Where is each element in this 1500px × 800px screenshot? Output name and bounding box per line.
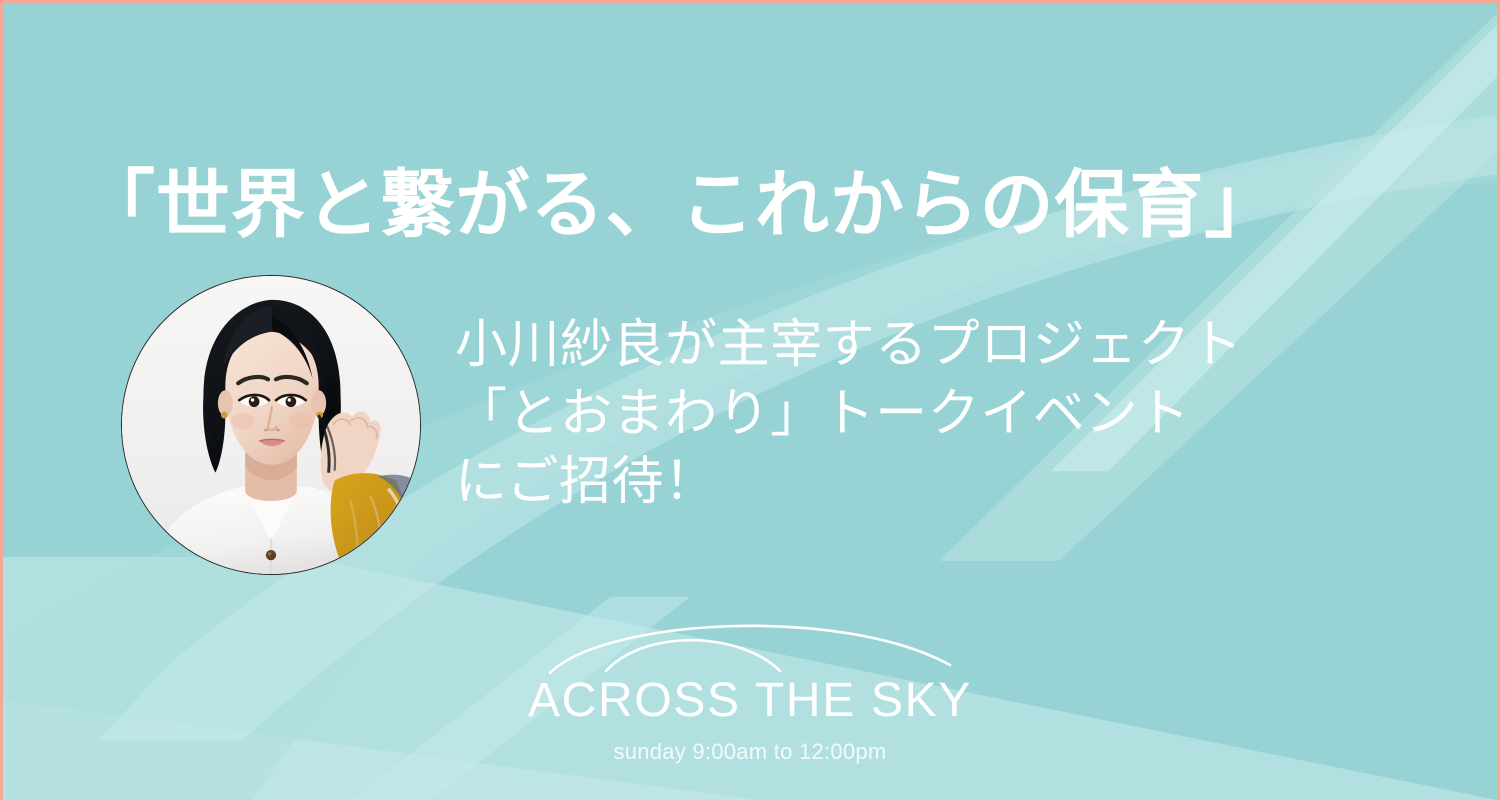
arcs-icon [540,609,960,681]
body-copy: 小川紗良が主宰するプロジェクト 「とおまわり」トークイベント にご招待！ [455,311,1415,517]
logo-lockup: ACROSS THE SKY sunday 9:00am to 12:00pm [3,609,1497,763]
promo-banner: 「世界と繋がる、これからの保育」 [0,0,1500,800]
portrait-avatar [121,275,421,575]
logo-wordmark: ACROSS THE SKY [528,677,972,725]
body-line-1: 小川紗良が主宰するプロジェクト [455,311,1415,380]
body-line-3: にご招待！ [455,448,1415,517]
headline: 「世界と繋がる、これからの保育」 [81,165,1441,245]
body-line-2: 「とおまわり」トークイベント [455,380,1415,449]
logo-tagline: sunday 9:00am to 12:00pm [614,741,887,763]
